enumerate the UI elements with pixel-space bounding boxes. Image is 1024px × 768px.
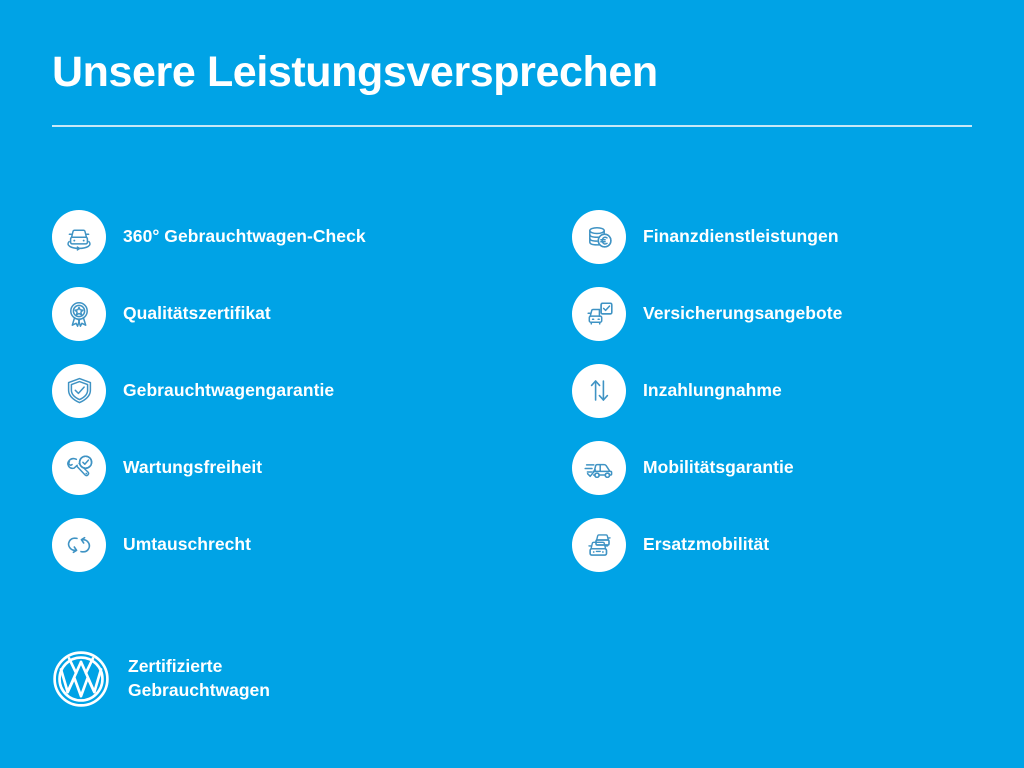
feature-item-mobility-guarantee: Mobilitätsgarantie xyxy=(572,429,972,506)
feature-label: 360° Gebrauchtwagen-Check xyxy=(123,226,366,247)
wrench-check-icon xyxy=(52,441,106,495)
brand-text: Zertifizierte Gebrauchtwagen xyxy=(128,655,270,703)
feature-item-replacement-mobility: Ersatzmobilität xyxy=(572,506,972,583)
feature-item-maintenance-free: Wartungsfreiheit xyxy=(52,429,572,506)
feature-label: Versicherungsangebote xyxy=(643,303,842,324)
car-360-check-icon xyxy=(52,210,106,264)
shield-check-icon xyxy=(52,364,106,418)
feature-grid: 360° Gebrauchtwagen-Check Finanzdienstle… xyxy=(52,198,972,583)
feature-item-trade-in: Inzahlungnahme xyxy=(572,352,972,429)
promo-panel: Unsere Leistungsversprechen 360° Gebrauc… xyxy=(0,0,1024,768)
feature-label: Mobilitätsgarantie xyxy=(643,457,794,478)
exchange-arrows-icon xyxy=(52,518,106,572)
feature-label: Wartungsfreiheit xyxy=(123,457,262,478)
page-title: Unsere Leistungsversprechen xyxy=(52,50,972,96)
feature-item-used-car-warranty: Gebrauchtwagengarantie xyxy=(52,352,572,429)
feature-item-insurance-offers: Versicherungsangebote xyxy=(572,275,972,352)
two-cars-icon xyxy=(572,518,626,572)
feature-label: Gebrauchtwagengarantie xyxy=(123,380,334,401)
award-ribbon-star-icon xyxy=(52,287,106,341)
feature-item-financial-services: Finanzdienstleistungen xyxy=(572,198,972,275)
title-divider xyxy=(52,125,972,127)
feature-item-360-check: 360° Gebrauchtwagen-Check xyxy=(52,198,572,275)
feature-item-quality-certificate: Qualitätszertifikat xyxy=(52,275,572,352)
volkswagen-logo-icon xyxy=(52,650,110,708)
header: Unsere Leistungsversprechen xyxy=(52,50,972,127)
feature-label: Finanzdienstleistungen xyxy=(643,226,839,247)
coins-euro-icon xyxy=(572,210,626,264)
feature-label: Umtauschrecht xyxy=(123,534,251,555)
car-motion-icon xyxy=(572,441,626,495)
feature-label: Inzahlungnahme xyxy=(643,380,782,401)
car-document-check-icon xyxy=(572,287,626,341)
feature-item-right-of-exchange: Umtauschrecht xyxy=(52,506,572,583)
arrows-up-down-icon xyxy=(572,364,626,418)
feature-label: Qualitätszertifikat xyxy=(123,303,271,324)
brand-lockup: Zertifizierte Gebrauchtwagen xyxy=(52,650,270,708)
feature-label: Ersatzmobilität xyxy=(643,534,769,555)
